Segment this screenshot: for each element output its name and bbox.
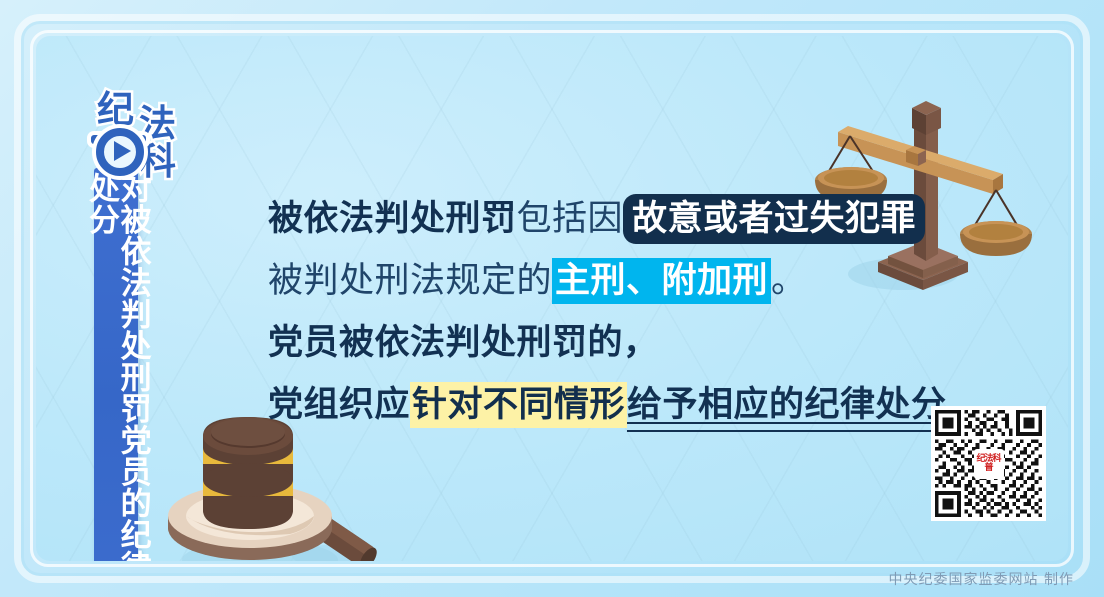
poster-canvas: 被依法判处刑罚包括因故意或者过失犯罪 被判处刑法规定的主刑、附加刑。 党员被依法… [0, 0, 1104, 597]
qr-code[interactable]: 纪法科普 [931, 406, 1046, 521]
body-line-3: 党员被依法判处刑罚的， [268, 312, 908, 374]
play-triangle-icon [114, 141, 131, 161]
line1-seg-normal: 包括因 [517, 199, 624, 239]
body-line-2: 被判处刑法规定的主刑、附加刑。 [268, 250, 908, 312]
body-copy: 被依法判处刑罚包括因故意或者过失犯罪 被判处刑法规定的主刑、附加刑。 党员被依法… [268, 188, 908, 436]
line4-seg-bold: 党组织应 [268, 384, 410, 425]
body-line-1: 被依法判处刑罚包括因故意或者过失犯罪 [268, 188, 908, 250]
line2-seg-normal: 被判处刑法规定的 [268, 261, 552, 301]
line4-double-underline: 给予相应的纪律处分 [627, 374, 947, 436]
line1-seg-bold: 被依法判处刑罚 [268, 198, 517, 239]
logo-char-ke: 科 [139, 143, 176, 180]
body-line-4: 党组织应针对不同情形给予相应的纪律处分。 [268, 374, 908, 436]
logo-char-ji: 纪 [97, 91, 134, 128]
line2-period: 。 [771, 261, 807, 301]
brand-logo[interactable]: 纪 法 科 [91, 88, 201, 188]
credit-text: 中央纪委国家监委网站 制作 [889, 569, 1074, 589]
line1-chip-dark: 故意或者过失犯罪 [623, 194, 925, 244]
line3-seg-bold: 党员被依法判处刑罚的， [268, 322, 659, 363]
vertical-title-banner: 对被依法判处刑罚党员的纪律处分 [94, 168, 138, 561]
line4-highlight-yellow: 针对不同情形 [410, 382, 627, 428]
poster-stage: 被依法判处刑罚包括因故意或者过失犯罪 被判处刑法规定的主刑、附加刑。 党员被依法… [36, 36, 1068, 561]
vertical-title-text: 对被依法判处刑罚党员的纪律处分 [84, 168, 147, 561]
line2-highlight-cyan: 主刑、附加刑 [552, 258, 771, 304]
qr-center-logo: 纪法科普 [974, 449, 1004, 479]
qr-center-logo-label: 纪法科普 [974, 455, 1004, 473]
